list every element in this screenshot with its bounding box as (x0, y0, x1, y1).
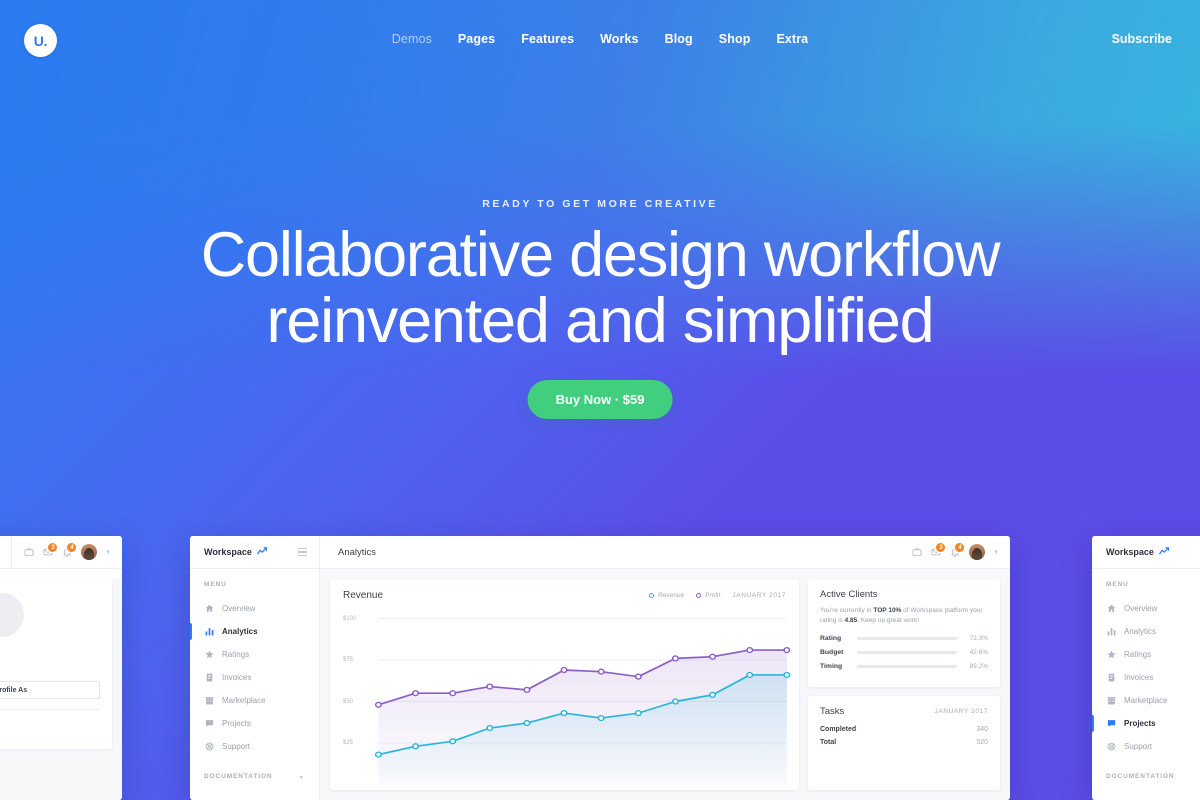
sidebar-section-menu: MENU (204, 581, 319, 588)
hero-headline: Collaborative design workflow reinvented… (0, 222, 1200, 354)
bell-icon[interactable]: 4 (62, 547, 72, 557)
metric-name: Rating (820, 635, 850, 642)
dashboard-content: Revenue Revenue Profit JANUARY 2017 (320, 569, 1010, 800)
view-profile-as-button[interactable]: View Profile As (0, 681, 100, 699)
dashboard-right-topbar: Workspace (1092, 536, 1200, 569)
dashboard-mockup-right: Workspace MENU Overview Analytics Rating… (1092, 536, 1200, 800)
sidebar-documentation-label: DOCUMENTATION (204, 773, 273, 780)
home-icon (1106, 604, 1116, 613)
sidebar-item-analytics[interactable]: Analytics (1106, 620, 1200, 643)
desc-pre: You're currently in (820, 607, 873, 614)
chevron-down-icon[interactable]: ▾ (106, 548, 110, 556)
sidebar-divider (204, 758, 319, 772)
mail-badge: 3 (935, 542, 946, 553)
dashboard-actions: 3 4 ▾ (912, 544, 998, 560)
store-icon (1106, 696, 1116, 705)
bar-chart-icon (204, 627, 214, 636)
chat-icon (1106, 719, 1116, 728)
sidebar-item-analytics[interactable]: Analytics (204, 620, 319, 643)
nav-item-extra[interactable]: Extra (776, 32, 808, 46)
profile-location: ngdom (0, 665, 100, 672)
mail-icon[interactable]: 3 (931, 547, 941, 557)
home-icon (204, 604, 214, 613)
sidebar-item-support[interactable]: Support (204, 735, 319, 758)
chevron-down-icon: ⌄ (299, 772, 305, 780)
hero-eyebrow: READY TO GET MORE CREATIVE (0, 198, 1200, 210)
dashboard-topbar: Workspace Analytics 3 4 ▾ (190, 536, 1010, 569)
nav-item-pages[interactable]: Pages (458, 32, 495, 46)
workspace-brand[interactable]: Workspace (1092, 536, 1200, 568)
metric-row-budget: Budget 42.6% (820, 649, 988, 656)
tasks-row-completed: Completed 340 (820, 726, 988, 733)
chart-legend: Revenue Profit JANUARY 2017 (649, 592, 786, 599)
sidebar-item-projects[interactable]: Projects (1106, 712, 1200, 735)
nav-links: Demos Pages Features Works Blog Shop Ext… (0, 32, 1200, 46)
sidebar-item-invoices[interactable]: Invoices (1106, 666, 1200, 689)
legend-item-profit[interactable]: Profit (696, 592, 720, 599)
legend-item-revenue[interactable]: Revenue (649, 592, 684, 599)
sidebar-item-label: Invoices (1124, 673, 1153, 682)
revenue-chart: $25$50$75$100 (343, 613, 791, 790)
sidebar-item-label: Support (222, 742, 250, 751)
avatar[interactable] (81, 544, 97, 560)
sidebar-section-menu: MENU (1106, 581, 1200, 588)
metric-track (857, 637, 957, 640)
chevron-down-icon[interactable]: ▾ (994, 548, 998, 556)
sidebar-item-label: Ratings (222, 650, 249, 659)
tasks-row-label: Completed (820, 726, 856, 733)
nav-item-shop[interactable]: Shop (719, 32, 751, 46)
legend-label: Profit (705, 592, 720, 599)
briefcase-icon[interactable] (912, 547, 922, 557)
sidebar-item-label: Projects (1124, 719, 1156, 728)
dashboard-left-topbar: 3 4 ▾ (0, 536, 122, 569)
desc-post: . Keep up great work! (857, 617, 919, 624)
trend-up-icon (257, 547, 268, 557)
tasks-row-total: Total 520 (820, 739, 988, 746)
briefcase-icon[interactable] (24, 547, 34, 557)
dashboard-mockup-left: 3 4 ▾ ghn viously TapQ ngdom View Profil… (0, 536, 122, 800)
active-clients-description: You're currently in TOP 10% of Workspace… (820, 606, 988, 626)
mail-badge: 3 (47, 542, 58, 553)
bell-badge: 4 (954, 542, 965, 553)
profile-stats: 4 NTS 186 FINISHED GIGS (0, 709, 100, 737)
sidebar-item-label: Invoices (222, 673, 251, 682)
chart-y-tick: $75 (343, 657, 353, 663)
nav-item-works[interactable]: Works (600, 32, 638, 46)
sidebar-item-label: Marketplace (1124, 696, 1168, 705)
sidebar-item-label: Analytics (222, 627, 258, 636)
workspace-brand-label: Workspace (204, 547, 252, 557)
hero-headline-line-2: reinvented and simplified (267, 286, 934, 356)
sidebar-section-documentation[interactable]: DOCUMENTATION ⌄ (1106, 772, 1200, 780)
mail-icon[interactable]: 3 (43, 547, 53, 557)
revenue-card: Revenue Revenue Profit JANUARY 2017 (330, 579, 799, 790)
dashboard-right-body: MENU Overview Analytics Ratings Invoices… (1092, 569, 1200, 800)
chart-y-tick: $50 (343, 699, 353, 705)
sidebar-item-support[interactable]: Support (1106, 735, 1200, 758)
tasks-period: JANUARY 2017 (934, 708, 988, 715)
profile-name: ghn (0, 645, 100, 655)
sidebar-item-overview[interactable]: Overview (1106, 597, 1200, 620)
chart-y-tick: $100 (343, 616, 356, 622)
trend-up-icon (1159, 547, 1170, 557)
sidebar-item-label: Overview (1124, 604, 1157, 613)
hero-headline-line-1: Collaborative design workflow (201, 220, 1000, 290)
sidebar-menu-label: MENU (1106, 581, 1129, 588)
legend-dot-profit (696, 593, 701, 598)
revenue-card-header: Revenue Revenue Profit JANUARY 2017 (343, 590, 786, 601)
legend-label: Revenue (658, 592, 684, 599)
sidebar-item-projects[interactable]: Projects (204, 712, 319, 735)
dashboard-left-content: ghn viously TapQ ngdom View Profile As 4… (0, 579, 122, 800)
dashboard-mockup-main: Workspace Analytics 3 4 ▾ (190, 536, 1010, 800)
chat-icon (204, 719, 214, 728)
workspace-brand[interactable]: Workspace (190, 536, 320, 568)
metric-track (857, 665, 957, 668)
sidebar-item-label: Marketplace (222, 696, 266, 705)
bell-badge: 4 (66, 542, 77, 553)
tasks-row-label: Total (820, 739, 836, 746)
subscribe-link[interactable]: Subscribe (1112, 32, 1172, 46)
invoice-icon (1106, 673, 1116, 682)
metric-name: Timing (820, 663, 850, 670)
metric-name: Budget (820, 649, 850, 656)
revenue-chart-svg (343, 613, 791, 790)
lifebuoy-icon (204, 742, 214, 751)
revenue-card-title: Revenue (343, 590, 383, 601)
profile-card: ghn viously TapQ ngdom View Profile As 4… (0, 579, 112, 749)
sidebar: MENU Overview Analytics Ratings Invoices… (190, 569, 320, 800)
nav-item-blog[interactable]: Blog (665, 32, 693, 46)
tasks-card-header: Tasks JANUARY 2017 (820, 706, 988, 717)
sidebar-item-label: Overview (222, 604, 255, 613)
workspace-brand-label: Workspace (1106, 547, 1154, 557)
sidebar-item-marketplace[interactable]: Marketplace (204, 689, 319, 712)
buy-now-button[interactable]: Buy Now · $59 (528, 380, 673, 419)
tasks-card: Tasks JANUARY 2017 Completed 340 Total 5… (808, 696, 1000, 790)
dashboard-left-brand (0, 536, 12, 568)
page-title: Analytics (320, 547, 376, 558)
metric-row-rating: Rating 72.3% (820, 635, 988, 642)
metric-value: 89.2% (964, 663, 988, 670)
revenue-period: JANUARY 2017 (732, 592, 786, 599)
sidebar-menu-label: MENU (204, 581, 227, 588)
invoice-icon (204, 673, 214, 682)
sidebar-section-documentation[interactable]: DOCUMENTATION ⌄ (204, 772, 319, 780)
bell-icon[interactable]: 4 (950, 547, 960, 557)
active-clients-card: Active Clients You're currently in TOP 1… (808, 579, 1000, 687)
tasks-title: Tasks (820, 706, 844, 717)
star-icon (1106, 650, 1116, 659)
tasks-row-value: 520 (976, 739, 988, 746)
avatar[interactable] (969, 544, 985, 560)
hamburger-menu-icon[interactable] (298, 548, 307, 556)
profile-subtitle: viously TapQ (0, 657, 100, 664)
sidebar: MENU Overview Analytics Ratings Invoices… (1092, 569, 1200, 800)
sidebar-item-ratings[interactable]: Ratings (1106, 643, 1200, 666)
lifebuoy-icon (1106, 742, 1116, 751)
sidebar-item-label: Support (1124, 742, 1152, 751)
tasks-row-value: 340 (976, 726, 988, 733)
bar-chart-icon (1106, 627, 1116, 636)
active-clients-title: Active Clients (820, 589, 988, 600)
sidebar-item-overview[interactable]: Overview (204, 597, 319, 620)
chart-y-tick: $25 (343, 740, 353, 746)
sidebar-item-label: Analytics (1124, 627, 1156, 636)
metric-row-timing: Timing 89.2% (820, 663, 988, 670)
dashboard-right-column: Active Clients You're currently in TOP 1… (808, 579, 1000, 790)
metric-track (857, 651, 957, 654)
nav-item-demos[interactable]: Demos (392, 32, 432, 46)
sidebar-item-ratings[interactable]: Ratings (204, 643, 319, 666)
sidebar-item-label: Ratings (1124, 650, 1151, 659)
sidebar-divider (1106, 758, 1200, 772)
metric-value: 42.6% (964, 649, 988, 656)
sidebar-item-invoices[interactable]: Invoices (204, 666, 319, 689)
sidebar-documentation-label: DOCUMENTATION (1106, 773, 1175, 780)
store-icon (204, 696, 214, 705)
desc-top-pct: TOP 10% (873, 607, 901, 614)
dashboard-left-actions: 3 4 ▾ (24, 544, 110, 560)
legend-dot-revenue (649, 593, 654, 598)
desc-rating: 4.85 (845, 617, 858, 624)
star-icon (204, 650, 214, 659)
nav-item-features[interactable]: Features (521, 32, 574, 46)
main-navigation: U. Demos Pages Features Works Blog Shop … (0, 0, 1200, 82)
metric-value: 72.3% (964, 635, 988, 642)
dashboard-body: MENU Overview Analytics Ratings Invoices… (190, 569, 1010, 800)
sidebar-item-label: Projects (222, 719, 251, 728)
profile-avatar (0, 593, 24, 637)
sidebar-item-marketplace[interactable]: Marketplace (1106, 689, 1200, 712)
